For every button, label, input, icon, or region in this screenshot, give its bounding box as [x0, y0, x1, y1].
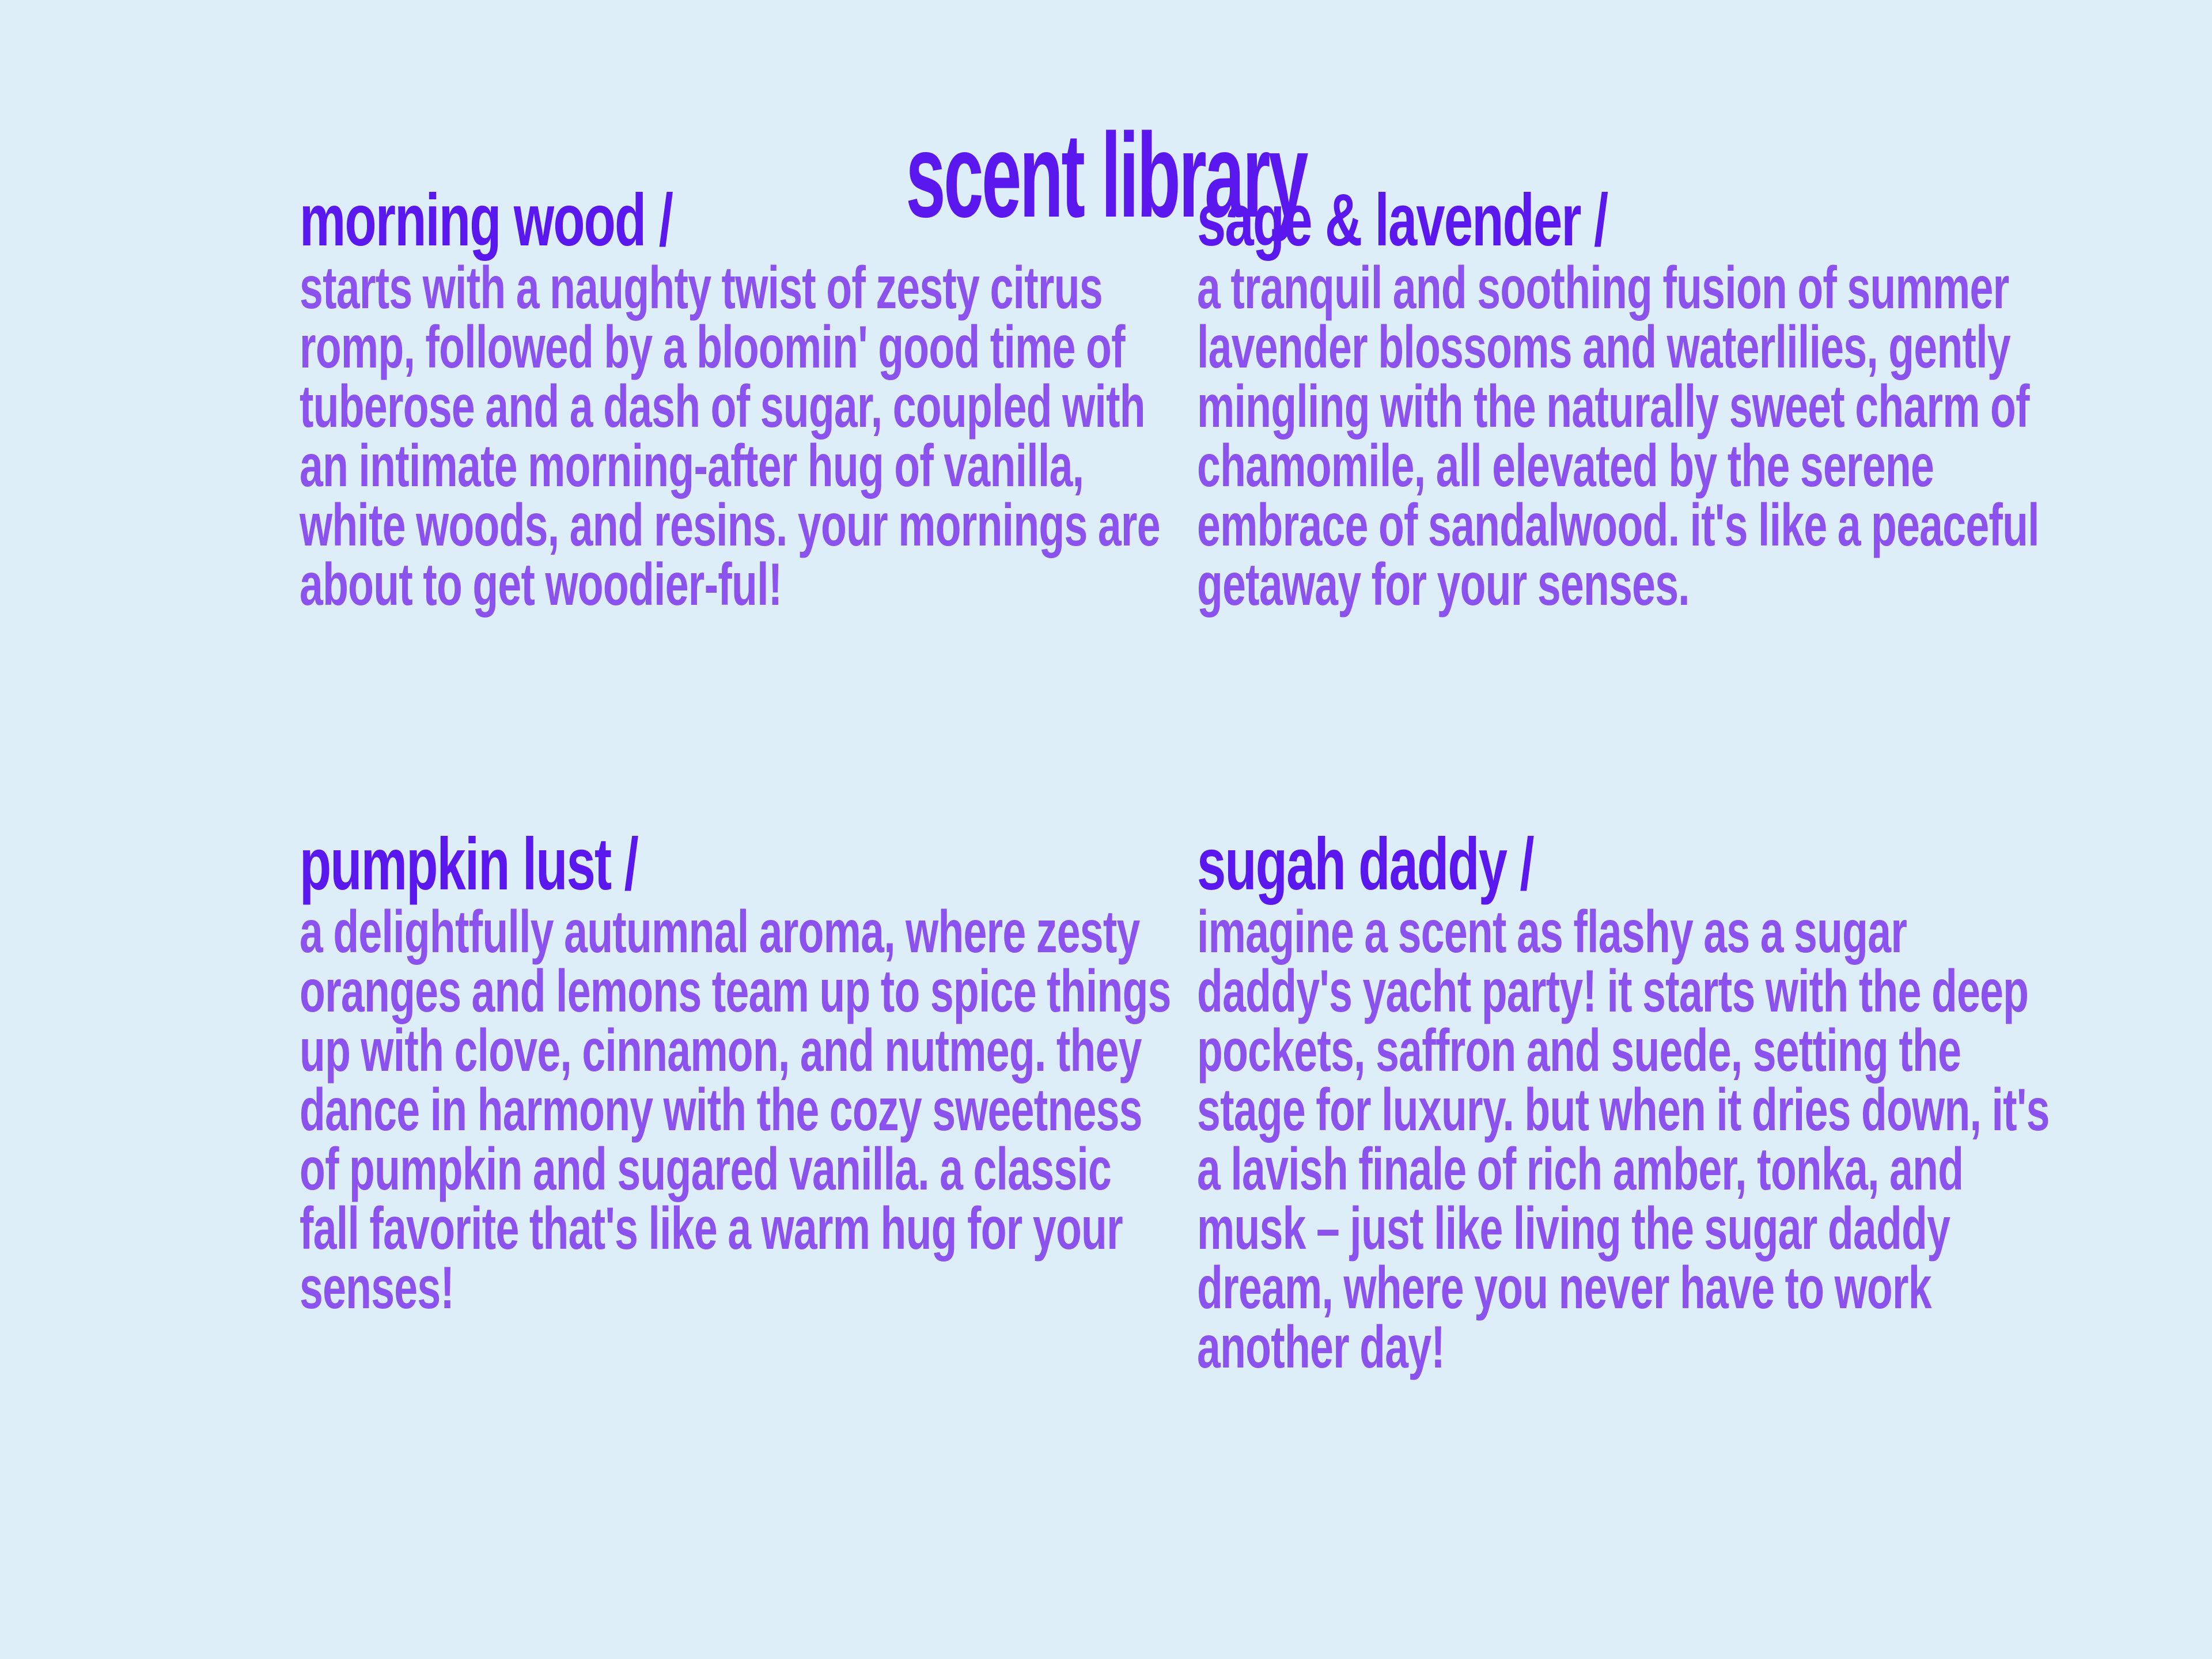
scent-library-page: scent library morning wood / starts with…: [0, 0, 2212, 1659]
scent-name: sugah daddy /: [1197, 828, 1815, 900]
scent-description: starts with a naughty twist of zesty cit…: [300, 259, 1175, 615]
scent-card-sugah-daddy: sugah daddy / imagine a scent as flashy …: [1197, 828, 2073, 1377]
scent-grid: morning wood / starts with a naughty twi…: [0, 184, 2212, 1601]
scent-card-morning-wood: morning wood / starts with a naughty twi…: [300, 184, 1175, 615]
scent-name: morning wood /: [300, 184, 917, 256]
scent-name: sage & lavender /: [1197, 184, 1815, 256]
scent-card-pumpkin-lust: pumpkin lust / a delightfully autumnal a…: [300, 828, 1175, 1318]
scent-card-sage-and-lavender: sage & lavender / a tranquil and soothin…: [1197, 184, 2073, 615]
scent-description: a tranquil and soothing fusion of summer…: [1197, 259, 2072, 615]
scent-name: pumpkin lust /: [300, 828, 917, 900]
scent-description: imagine a scent as flashy as a sugar dad…: [1197, 903, 2072, 1377]
scent-description: a delightfully autumnal aroma, where zes…: [300, 903, 1175, 1318]
